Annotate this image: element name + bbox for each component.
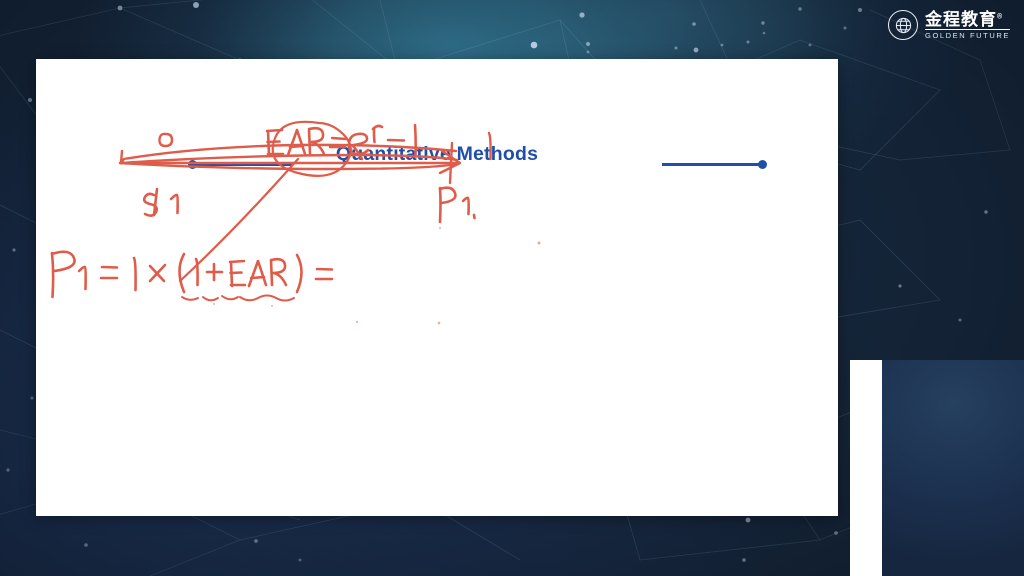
registered-mark: ® [997, 13, 1003, 20]
brand-logo: 金程教育® GOLDEN FUTURE [888, 10, 1010, 40]
ink-text-ear [267, 128, 324, 155]
ink-label-dollar-one [144, 189, 177, 216]
brand-name-cn: 金程教育® [925, 11, 1010, 30]
ink-label-zero [159, 134, 172, 146]
presenter-webcam [850, 360, 1024, 576]
webcam-left-strip [850, 360, 882, 576]
lecture-video-frame: 金程教育® GOLDEN FUTURE Quantitative Methods [0, 0, 1024, 576]
ink-label-one [489, 133, 491, 159]
squiggly-underline-icon [182, 296, 294, 301]
ink-formula-future-value [52, 252, 332, 297]
ink-label-p-one [440, 188, 475, 222]
handwriting-annotation-layer [36, 59, 838, 516]
brand-name-en: GOLDEN FUTURE [925, 32, 1010, 40]
slide-panel: Quantitative Methods [36, 59, 838, 516]
globe-seal-icon [888, 10, 918, 40]
ink-minus-one [388, 125, 416, 155]
